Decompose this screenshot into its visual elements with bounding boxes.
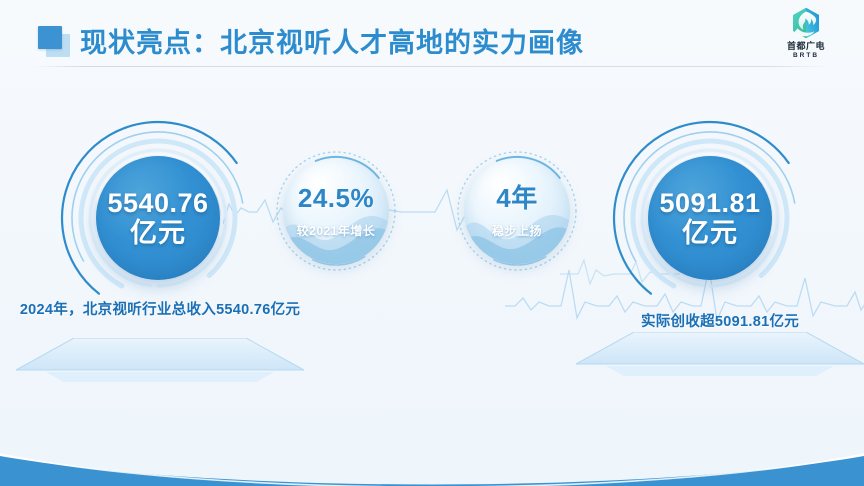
stat-circle-2-ball: 24.5% 较2021年增长 xyxy=(283,158,389,264)
caption-left-text: 2024年，北京视听行业总收入5540.76亿元 xyxy=(16,298,304,322)
stat-circle-4-unit: 亿元 xyxy=(682,218,738,249)
stat-circle-3-label: 稳步上扬 xyxy=(492,223,542,239)
bottom-wave-band xyxy=(0,414,864,486)
brand-logo: 首都广电 BRTB xyxy=(774,6,838,62)
header-divider xyxy=(34,66,830,67)
logo-cn-label: 首都广电 xyxy=(774,41,838,52)
stat-circle-3-text: 4年 稳步上扬 xyxy=(464,158,570,264)
stat-circle-4-core: 5091.81 亿元 xyxy=(648,156,772,280)
page-title: 现状亮点：北京视听人才高地的实力画像 xyxy=(80,21,584,60)
pedestal-right-shape xyxy=(576,332,864,376)
slide-header: 现状亮点：北京视听人才高地的实力画像 xyxy=(0,0,864,72)
logo-en-label: BRTB xyxy=(774,52,838,60)
overlapping-squares-icon xyxy=(38,26,72,56)
stat-circle-4-value: 5091.81 xyxy=(659,188,760,218)
stat-circle-2-text: 24.5% 较2021年增长 xyxy=(283,158,389,264)
stat-circle-3: 4年 稳步上扬 xyxy=(454,148,580,274)
slide-canvas: 现状亮点：北京视听人才高地的实力画像 xyxy=(0,0,864,486)
caption-block-right: 实际创收超5091.81亿元 xyxy=(576,310,864,334)
stat-circle-3-ball: 4年 稳步上扬 xyxy=(464,158,570,264)
stat-circle-4: 5091.81 亿元 xyxy=(610,118,810,318)
stat-circle-2: 24.5% 较2021年增长 xyxy=(273,148,399,274)
stat-circle-1: 5540.76 亿元 xyxy=(58,118,258,318)
stat-circle-1-value: 5540.76 xyxy=(107,188,208,218)
pedestal-left-shape xyxy=(16,338,304,382)
stat-circle-1-core: 5540.76 亿元 xyxy=(96,156,220,280)
caption-right-text: 实际创收超5091.81亿元 xyxy=(576,310,864,334)
stat-circle-1-unit: 亿元 xyxy=(130,218,186,249)
stat-circle-3-value: 4年 xyxy=(496,183,537,213)
hexagon-swirl-logo-icon xyxy=(789,6,823,40)
caption-block-left: 2024年，北京视听行业总收入5540.76亿元 xyxy=(16,298,304,322)
stat-circle-2-value: 24.5% xyxy=(298,183,374,213)
stat-circle-2-label: 较2021年增长 xyxy=(297,223,376,239)
square-front-icon xyxy=(38,26,62,49)
